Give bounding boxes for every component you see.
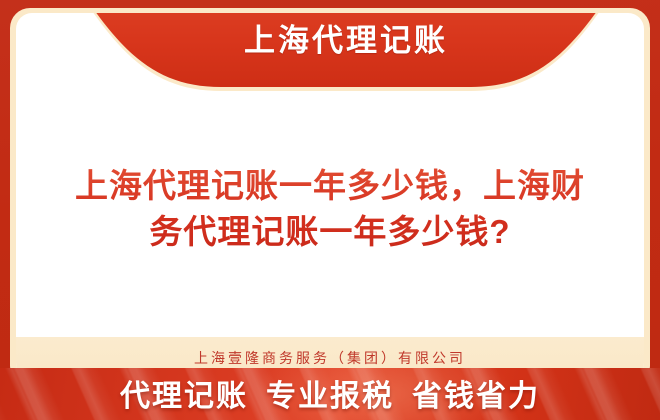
- slogan-segment-1: 代理记账: [120, 371, 248, 415]
- page-title: 上海代理记账一年多少钱，上海财 务代理记账一年多少钱?: [50, 163, 610, 255]
- company-name: 上海壹隆商务服务（集团）有限公司: [194, 348, 466, 368]
- page-title-line-2: 务代理记账一年多少钱?: [50, 209, 610, 255]
- header-tab-title: 上海代理记账: [16, 19, 644, 63]
- slogan-segment-2: 专业报税: [266, 371, 394, 415]
- page-title-line-1: 上海代理记账一年多少钱，上海财: [50, 163, 610, 209]
- poster-canvas: 上海代理记账 上海代理记账一年多少钱，上海财 务代理记账一年多少钱? 上海壹隆商…: [0, 0, 660, 420]
- slogan-segment-3: 省钱省力: [412, 371, 540, 415]
- banner-slogan-text: 代理记账 专业报税 省钱省力: [0, 368, 660, 420]
- white-content-card: 上海代理记账 上海代理记账一年多少钱，上海财 务代理记账一年多少钱? 上海壹隆商…: [16, 13, 644, 379]
- bottom-slogan-banner: 代理记账 专业报税 省钱省力: [0, 368, 660, 420]
